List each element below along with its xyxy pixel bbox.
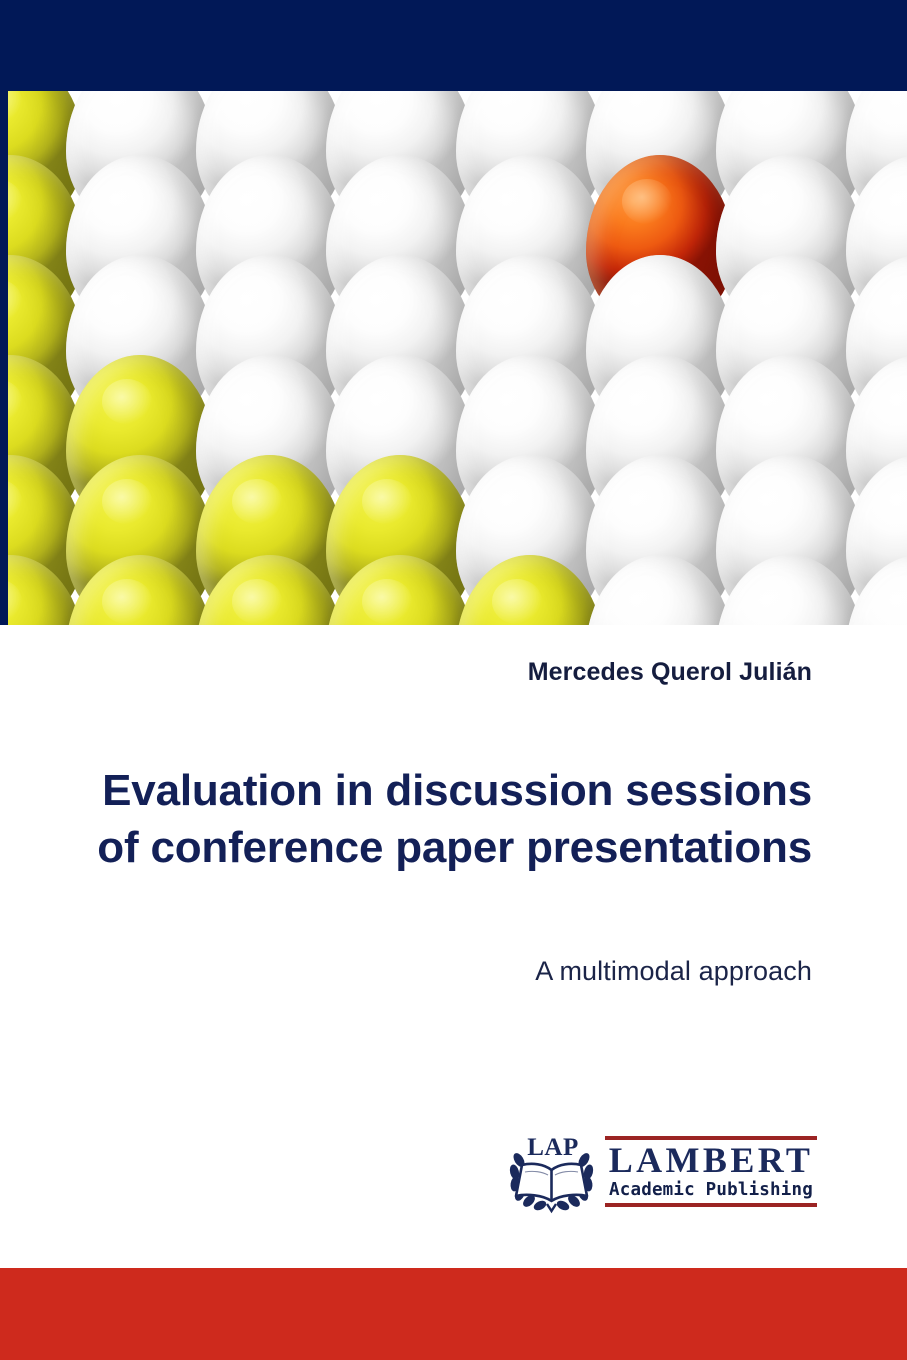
top-navy-band — [0, 0, 907, 92]
book-subtitle: A multimodal approach — [535, 956, 812, 987]
cover-artwork — [0, 88, 907, 625]
book-title: Evaluation in discussion sessions of con… — [82, 762, 812, 876]
logo-lambert-text: LAMBERT — [605, 1140, 817, 1179]
publisher-logo: LAP LAMBERT Academic Publishing — [505, 1134, 817, 1216]
sphere-pattern-image — [8, 91, 907, 625]
author-name: Mercedes Querol Julián — [528, 658, 812, 687]
logo-rule-bottom — [605, 1203, 817, 1207]
bottom-red-band — [0, 1268, 907, 1360]
logo-lap-text: LAP — [521, 1135, 585, 1161]
logo-wordmark: LAMBERT Academic Publishing — [605, 1136, 817, 1207]
logo-tagline-text: Academic Publishing — [605, 1179, 817, 1203]
